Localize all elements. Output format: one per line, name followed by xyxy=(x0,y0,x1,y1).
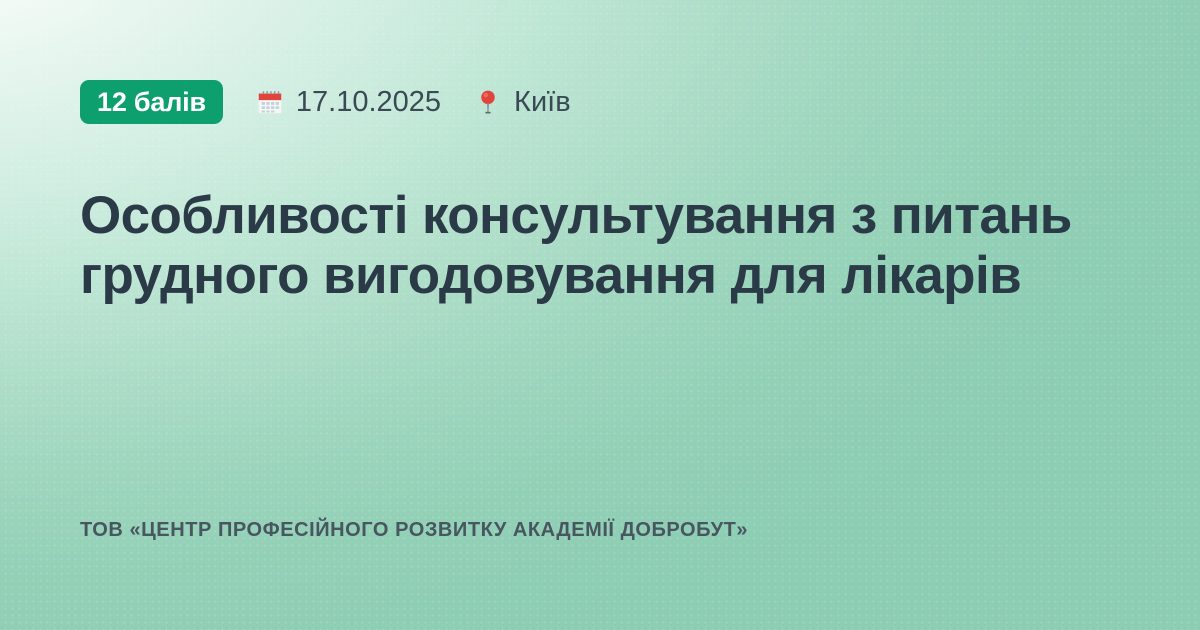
pushpin-icon xyxy=(473,87,503,117)
event-location: Київ xyxy=(473,87,571,117)
title-block: Особливості консультування з питань груд… xyxy=(80,186,1120,307)
event-date: 17.10.2025 xyxy=(255,87,441,117)
page-title: Особливості консультування з питань груд… xyxy=(80,186,1120,307)
points-badge: 12 балів xyxy=(80,80,223,124)
meta-row: 12 балів xyxy=(80,80,1120,124)
event-location-label: Київ xyxy=(514,88,571,117)
organizer-name: ТОВ «ЦЕНТР ПРОФЕСІЙНОГО РОЗВИТКУ АКАДЕМІ… xyxy=(80,518,1120,542)
event-date-label: 17.10.2025 xyxy=(296,88,441,117)
calendar-icon xyxy=(255,87,285,117)
card-content: 12 балів xyxy=(0,0,1200,630)
layout-spacer xyxy=(80,307,1120,518)
event-card: 12 балів xyxy=(0,0,1200,630)
